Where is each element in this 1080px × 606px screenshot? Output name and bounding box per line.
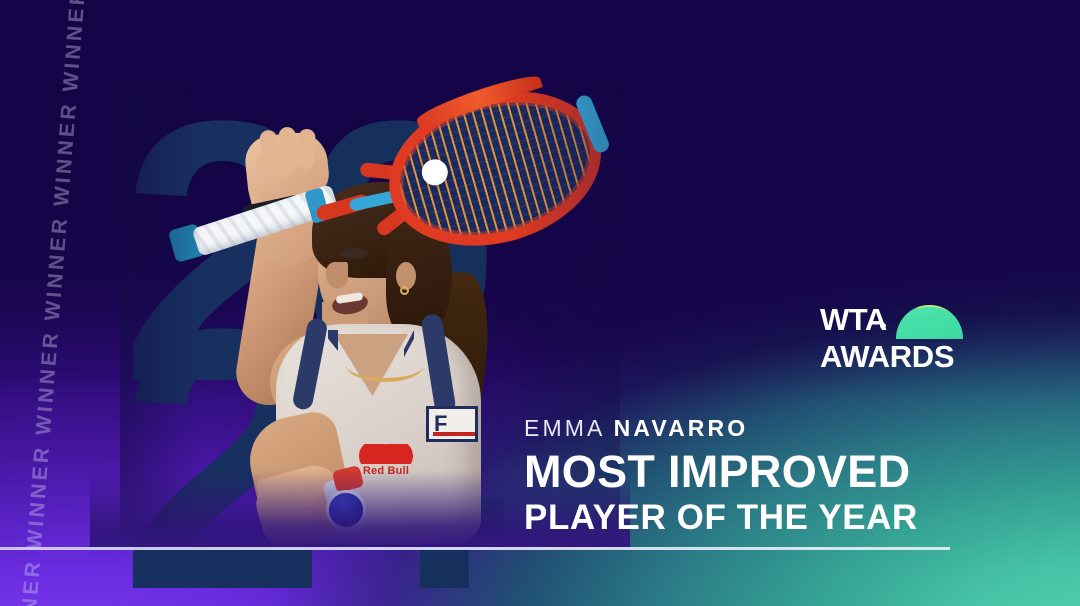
wta-a-dot xyxy=(880,323,886,329)
player-first-name: EMMA xyxy=(524,415,604,441)
redbull-bulls-icon xyxy=(358,444,414,464)
award-title-line-2: PLAYER OF THE YEAR xyxy=(524,498,974,538)
tennis-ball-dome-icon xyxy=(896,305,963,339)
watch-face xyxy=(326,490,366,530)
wta-awards-logo[interactable]: WTA AWARDS xyxy=(820,305,970,377)
awards-graphic: 2 0 2 4 WINNER WINNER WINNER WINNER WINN… xyxy=(0,0,1080,606)
necklace xyxy=(346,348,424,382)
player-name: EMMA NAVARRO xyxy=(524,413,974,443)
awards-wordmark: AWARDS xyxy=(820,339,954,375)
finger xyxy=(260,509,315,527)
fila-sponsor-logo: F xyxy=(426,406,478,442)
award-title-line-1: MOST IMPROVED xyxy=(524,447,974,497)
player-last-name: NAVARRO xyxy=(614,415,749,441)
wta-wordmark: WTA xyxy=(820,303,887,337)
bottom-divider-rule xyxy=(0,547,950,550)
fila-red-bar xyxy=(433,432,475,436)
award-text-block: EMMA NAVARRO MOST IMPROVED PLAYER OF THE… xyxy=(524,413,974,538)
